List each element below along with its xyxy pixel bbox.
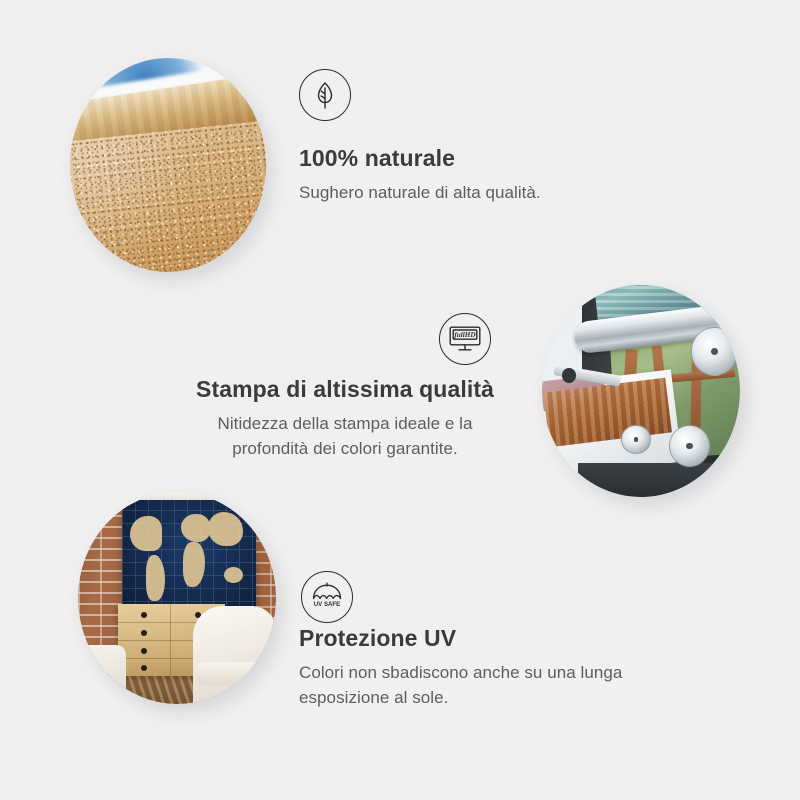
fullhd-icon-label: fullHD <box>454 331 476 339</box>
uv-safe-icon-label: UV SAFE <box>314 601 340 608</box>
feature-description-print-quality: Nitidezza della stampa ideale e la profo… <box>180 411 510 461</box>
feature-title-print-quality: Stampa di altissima qualità <box>180 374 510 404</box>
cork-texture-photo <box>70 58 266 272</box>
leaf-icon <box>299 69 351 121</box>
fullhd-monitor-icon-glyph: fullHD <box>448 324 482 354</box>
room-world-map-photo <box>78 492 276 704</box>
feature-text-uv-protection: Protezione UV Colori non sbadiscono anch… <box>299 623 699 710</box>
cork-photo-inner <box>70 58 266 272</box>
printing-machine-photo <box>542 285 740 497</box>
dresser-knob <box>141 612 147 618</box>
feature-title-natural: 100% naturale <box>299 143 639 173</box>
dresser-seam <box>170 604 171 676</box>
printing-photo-wheel <box>621 425 651 455</box>
printing-photo-knob <box>562 368 576 383</box>
printing-photo-wheel <box>691 327 739 376</box>
armchair-arm <box>194 662 274 684</box>
printing-photo-wheel <box>669 425 711 467</box>
room-photo-armchair-left <box>78 645 126 704</box>
feature-highlights-panel: 100% naturale Sughero naturale di alta q… <box>0 0 800 800</box>
feature-description-natural: Sughero naturale di alta qualità. <box>299 180 639 205</box>
room-photo-inner <box>78 492 276 704</box>
feature-text-natural: 100% naturale Sughero naturale di alta q… <box>299 143 639 205</box>
leaf-icon-glyph <box>310 79 340 111</box>
map-graticule <box>122 500 257 614</box>
printing-photo-inner <box>542 285 740 497</box>
room-photo-armchair-right <box>193 606 276 704</box>
printing-photo-lower-panel <box>578 463 713 497</box>
feature-title-uv-protection: Protezione UV <box>299 623 699 653</box>
uv-safe-umbrella-icon: UV SAFE <box>301 571 353 623</box>
feature-description-uv-protection: Colori non sbadiscono anche su una lunga… <box>299 660 699 710</box>
cork-photo-granules <box>70 119 266 272</box>
dresser-knob <box>141 648 147 654</box>
dresser-knob <box>141 630 147 636</box>
feature-text-print-quality: Stampa di altissima qualità Nitidezza de… <box>180 374 510 461</box>
room-photo-world-map <box>122 500 257 614</box>
uv-safe-umbrella-icon-glyph: UV SAFE <box>309 581 345 613</box>
fullhd-monitor-icon: fullHD <box>439 313 491 365</box>
dresser-knob <box>141 665 147 671</box>
